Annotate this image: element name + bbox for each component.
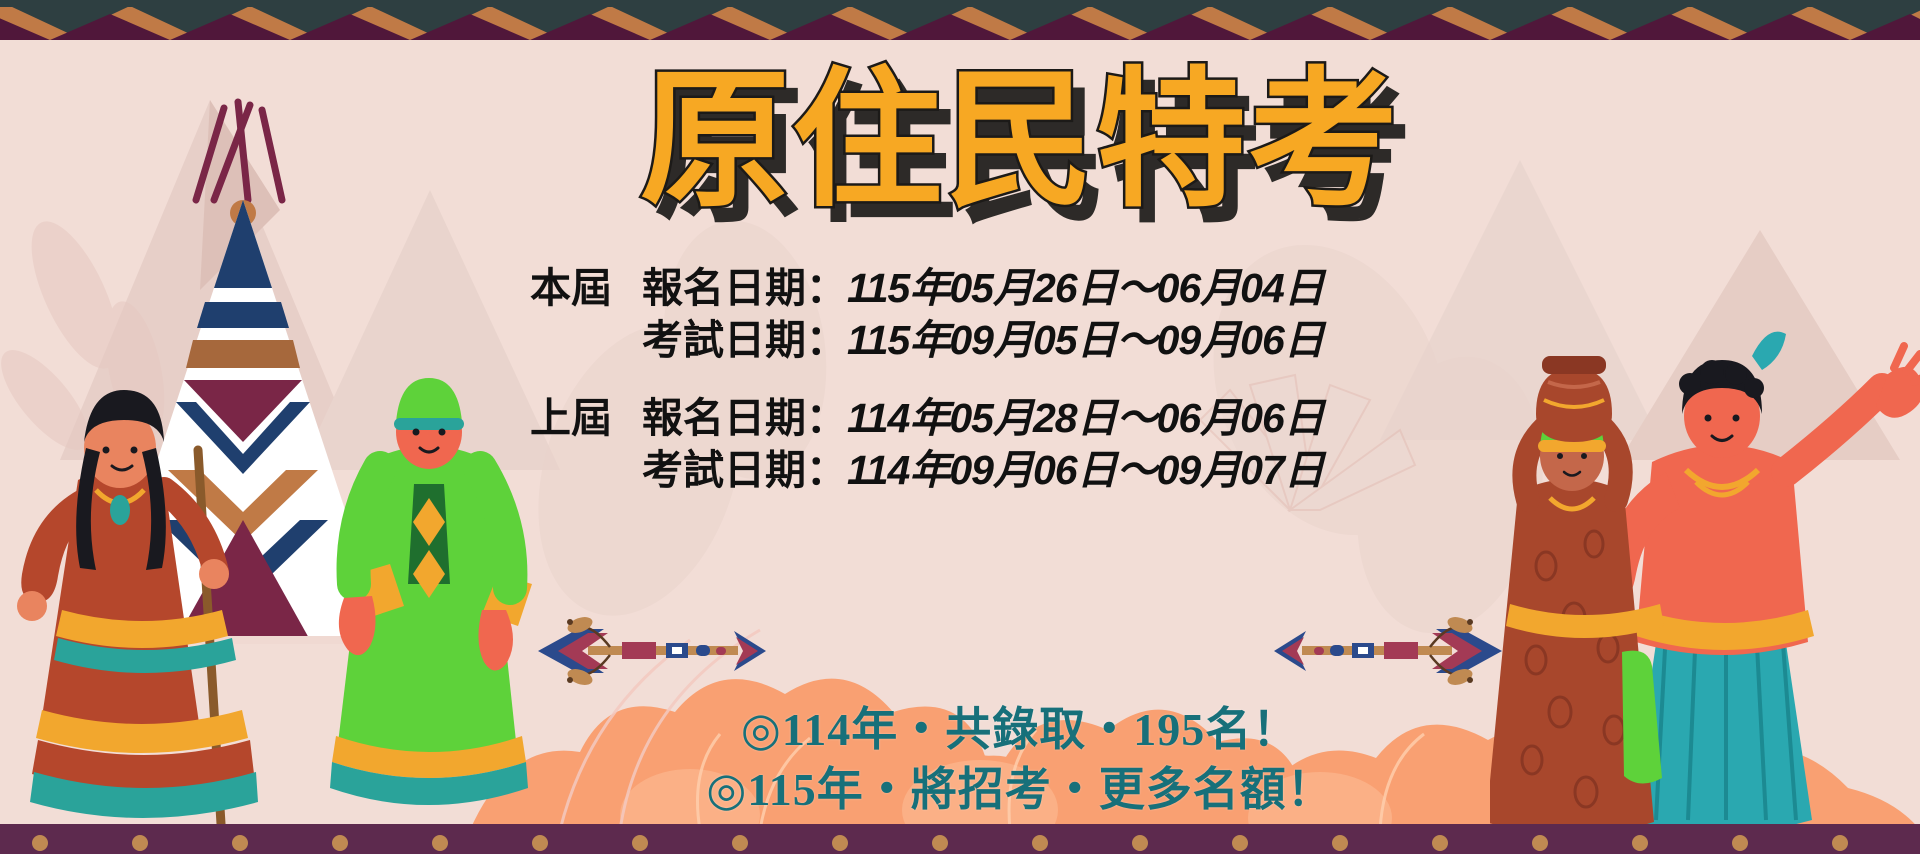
date-label: 報名日期： — [642, 262, 847, 314]
date-label: 報名日期： — [642, 392, 847, 444]
date-row: 考試日期： 114年09月06日～09月07日 — [470, 444, 1570, 496]
date-group-lead: 本屆 — [530, 262, 642, 314]
note-line-1: ◎114年・共錄取・195名！ — [470, 700, 1570, 760]
bottom-border-strip — [0, 824, 1920, 854]
date-value: 114年09月06日～09月07日 — [847, 444, 1324, 496]
tribal-arrow-right-icon — [530, 615, 780, 685]
decorative-arrow-row — [470, 615, 1570, 685]
date-row: 本屆 報名日期： 115年05月26日～06月04日 — [470, 262, 1570, 314]
note-line-2: ◎115年・將招考・更多名額！ — [470, 760, 1570, 820]
exam-dates: 本屆 報名日期： 115年05月26日～06月04日 考試日期： 115年09月… — [470, 262, 1570, 496]
date-label: 考試日期： — [642, 314, 847, 366]
date-value: 115年09月05日～09月06日 — [847, 314, 1324, 366]
date-group-previous: 上屆 報名日期： 114年05月28日～06月06日 考試日期： 114年09月… — [470, 392, 1570, 496]
indigenous-exam-banner: 原住民特考 原住民特考 本屆 報名日期： 115年05月26日～06月04日 考… — [0, 0, 1920, 854]
date-value: 114年05月28日～06月06日 — [847, 392, 1324, 444]
page-title-front: 原住民特考 — [470, 60, 1570, 220]
date-label: 考試日期： — [642, 444, 847, 496]
top-border-strip — [0, 0, 1920, 40]
date-row: 上屆 報名日期： 114年05月28日～06月06日 — [470, 392, 1570, 444]
top-strip-gap — [0, 40, 1920, 46]
date-value: 115年05月26日～06月04日 — [847, 262, 1324, 314]
page-title: 原住民特考 原住民特考 — [470, 60, 1570, 220]
date-row: 考試日期： 115年09月05日～09月06日 — [470, 314, 1570, 366]
recruitment-notes: ◎114年・共錄取・195名！ ◎115年・將招考・更多名額！ — [470, 700, 1570, 820]
date-group-lead: 上屆 — [530, 392, 642, 444]
tribal-arrow-left-icon — [1260, 615, 1510, 685]
date-group-current: 本屆 報名日期： 115年05月26日～06月04日 考試日期： 115年09月… — [470, 262, 1570, 366]
text-content-block: 原住民特考 原住民特考 本屆 報名日期： 115年05月26日～06月04日 考… — [470, 60, 1570, 522]
